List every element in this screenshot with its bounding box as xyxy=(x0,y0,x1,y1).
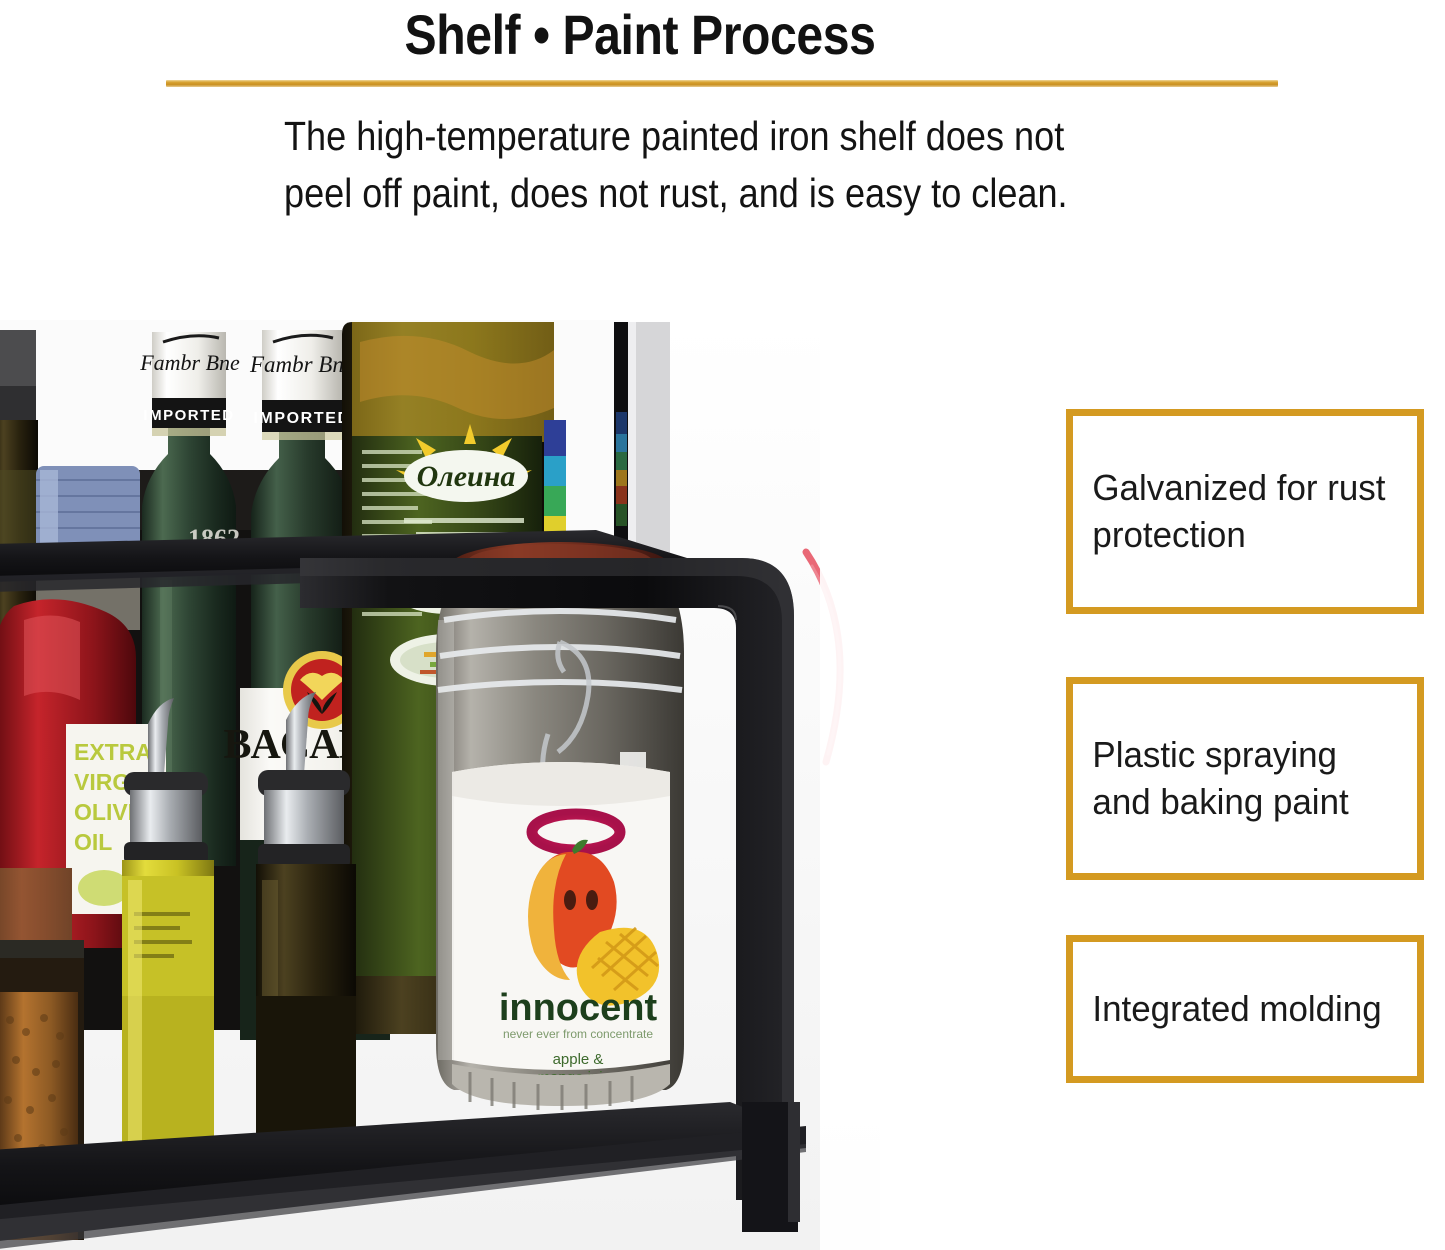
svg-text:IMPORTED: IMPORTED xyxy=(143,407,234,424)
svg-text:innocent: innocent xyxy=(499,987,658,1029)
svg-text:EXTRA: EXTRA xyxy=(74,739,152,765)
svg-text:apple &: apple & xyxy=(553,1051,604,1068)
feature-box-plastic-spraying: Plastic spraying and baking paint xyxy=(1066,677,1424,880)
page-subtitle: The high-temperature painted iron shelf … xyxy=(284,108,1094,221)
feature-label: Plastic spraying and baking paint xyxy=(1073,732,1407,826)
shelf-back-post xyxy=(614,322,670,568)
header: Shelf • Paint Process The high-temperatu… xyxy=(0,0,1445,320)
feature-box-galvanized: Galvanized for rust protection xyxy=(1066,409,1424,614)
svg-text:IMPORTED: IMPORTED xyxy=(253,410,350,427)
title-divider xyxy=(166,80,1278,87)
jar-clamp-innocent: innocent never ever from concentrate app… xyxy=(436,542,684,1110)
page-title: Shelf • Paint Process xyxy=(90,2,1191,67)
feature-box-integrated-molding: Integrated molding xyxy=(1066,935,1424,1083)
shelf-scene-illustration: IMPORTED Fambr Bne 1862 IMPORTED Fambr B… xyxy=(0,320,880,1250)
svg-text:never ever from concentrate: never ever from concentrate xyxy=(503,1027,653,1041)
product-photo: IMPORTED Fambr Bne 1862 IMPORTED Fambr B… xyxy=(0,320,880,1250)
svg-text:Fambr Bne: Fambr Bne xyxy=(249,352,354,377)
feature-label: Integrated molding xyxy=(1073,986,1401,1033)
feature-label: Galvanized for rust protection xyxy=(1073,465,1407,559)
svg-text:Олеина: Олеина xyxy=(417,460,516,493)
svg-text:OIL: OIL xyxy=(74,829,112,855)
svg-text:Fambr Bne: Fambr Bne xyxy=(139,350,240,375)
